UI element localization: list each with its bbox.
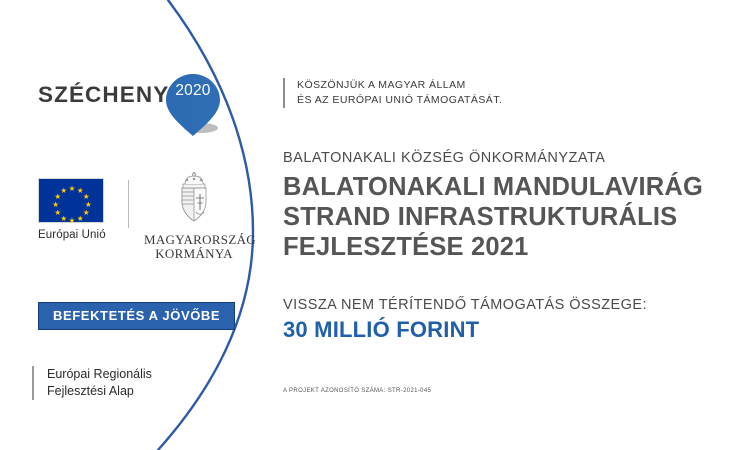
project-title: BALATONAKALI MANDULAVIRÁG STRAND INFRAST… xyxy=(283,172,703,262)
erdf-fund-text: Európai Regionális Fejlesztési Alap xyxy=(47,366,152,400)
eu-flag-icon: ★ ★ ★ ★ ★ ★ ★ ★ ★ ★ ★ ★ xyxy=(38,178,104,223)
hungary-caption: MAGYARORSZÁG KORMÁNYA xyxy=(144,233,244,261)
thanks-text: KÖSZÖNJÜK A MAGYAR ÁLLAM ÉS AZ EURÓPAI U… xyxy=(297,78,502,108)
slogan-badge: BEFEKTETÉS A JÖVŐBE xyxy=(38,302,235,330)
map-pin-icon: 2020 xyxy=(165,72,235,140)
thanks-block: KÖSZÖNJÜK A MAGYAR ÁLLAM ÉS AZ EURÓPAI U… xyxy=(283,78,502,108)
pin-year-label: 2020 xyxy=(165,82,221,100)
hungary-coat-of-arms-icon xyxy=(173,172,215,230)
szechenyi-wordmark: SZÉCHENYI xyxy=(38,82,177,108)
logo-divider xyxy=(128,180,129,228)
european-union-logo: ★ ★ ★ ★ ★ ★ ★ ★ ★ ★ ★ ★ Európai Unió xyxy=(38,178,108,241)
grant-label: VISSZA NEM TÉRÍTENDŐ TÁMOGATÁS ÖSSZEGE: xyxy=(283,297,647,313)
eu-caption: Európai Unió xyxy=(38,229,108,241)
hungary-caption-line2: KORMÁNYA xyxy=(144,247,244,261)
hungary-caption-line1: MAGYARORSZÁG xyxy=(144,233,244,247)
grant-amount: 30 MILLIÓ FORINT xyxy=(283,317,479,343)
hungary-government-logo: MAGYARORSZÁG KORMÁNYA xyxy=(144,172,244,261)
erdf-fund-block: Európai Regionális Fejlesztési Alap xyxy=(32,366,152,400)
szechenyi-2020-logo: SZÉCHENYI 2020 xyxy=(38,72,238,140)
poster-canvas: SZÉCHENYI 2020 ★ ★ ★ ★ ★ ★ ★ ★ ★ ★ ★ ★ E… xyxy=(0,0,750,450)
project-owner: BALATONAKALI KÖZSÉG ÖNKORMÁNYZATA xyxy=(283,150,605,166)
project-identifier: A PROJEKT AZONOSÍTÓ SZÁMA: STR-2021-045 xyxy=(283,388,431,394)
